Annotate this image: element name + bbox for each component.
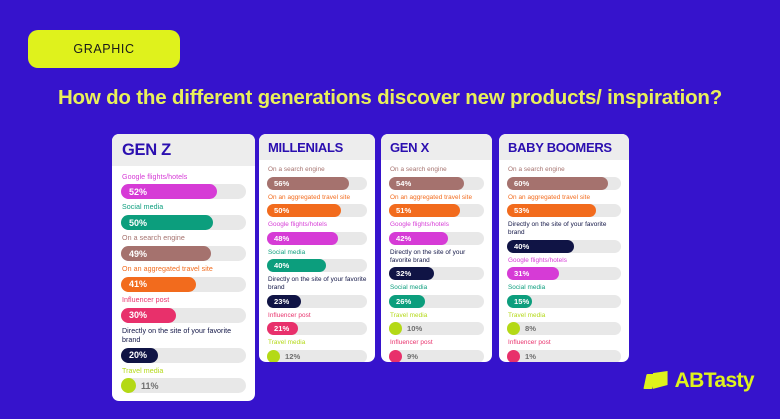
bar-row: On a search engine60% (507, 166, 621, 190)
bar-row: Social media26% (389, 284, 484, 308)
bar-value: 40% (514, 242, 529, 251)
bar-track: 53% (507, 204, 621, 217)
bar-label: Social media (508, 284, 621, 292)
bar-row: Social media15% (507, 284, 621, 308)
card-title: BABY BOOMERS (508, 141, 620, 154)
bar-fill: 42% (389, 232, 448, 245)
bar-label: Influencer post (390, 339, 484, 347)
bar-label: On a search engine (122, 234, 246, 243)
bar-row: Directly on the site of your favorite br… (507, 221, 621, 253)
bar-label: Google flights/hotels (268, 221, 367, 229)
bar-value: 11% (141, 381, 159, 391)
bar-label: Travel media (122, 367, 246, 376)
bar-fill: 50% (121, 215, 213, 230)
bar-fill: 51% (389, 204, 460, 217)
abtasty-logo-mark-icon (645, 371, 669, 391)
bar-track: 1% (507, 350, 621, 363)
bar-row: Social media40% (267, 249, 367, 273)
bar-label: On an aggregated travel site (508, 194, 621, 202)
bar-fill: 26% (389, 295, 425, 308)
graphic-badge: GRAPHIC (28, 30, 180, 68)
bar-label: Travel media (508, 312, 621, 320)
bar-fill: 60% (507, 177, 608, 190)
bar-value: 56% (274, 179, 289, 188)
bar-value: 60% (514, 179, 529, 188)
bar-label: Google flights/hotels (122, 173, 246, 182)
bar-track: 23% (267, 295, 367, 308)
card-body: On a search engine60%On an aggregated tr… (499, 160, 629, 362)
bar-value: 20% (129, 350, 147, 360)
bar-fill: 48% (267, 232, 338, 245)
bar-row: On an aggregated travel site53% (507, 194, 621, 218)
bar-value: 26% (396, 297, 411, 306)
bar-fill: 54% (389, 177, 464, 190)
bar-track: 41% (121, 277, 246, 292)
bar-track: 10% (389, 322, 484, 335)
bar-label: Google flights/hotels (508, 257, 621, 265)
bar-fill: 40% (507, 240, 574, 253)
bar-label: Directly on the site of your favorite br… (122, 327, 246, 345)
bar-fill: 23% (267, 295, 301, 308)
bar-row: Influencer post21% (267, 312, 367, 336)
infographic-canvas: GRAPHIC How do the different generations… (0, 0, 780, 419)
bar-row: Travel media10% (389, 312, 484, 336)
bar-row: On a search engine54% (389, 166, 484, 190)
bar-track: 50% (267, 204, 367, 217)
generation-card-gen-z: GEN ZGoogle flights/hotels52%Social medi… (112, 134, 255, 401)
bar-value: 41% (129, 279, 147, 289)
card-header: GEN X (381, 134, 492, 160)
bar-value: 42% (396, 234, 411, 243)
bar-label: Influencer post (268, 312, 367, 320)
bar-value: 50% (274, 206, 289, 215)
bar-value: 10% (407, 324, 422, 333)
card-body: On a search engine54%On an aggregated tr… (381, 160, 492, 362)
generation-card-baby-boomers: BABY BOOMERSOn a search engine60%On an a… (499, 134, 629, 362)
bar-fill: 40% (267, 259, 326, 272)
bar-track: 40% (267, 259, 367, 272)
bar-track: 9% (389, 350, 484, 363)
bar-row: Travel media11% (121, 367, 246, 394)
bar-row: On a search engine56% (267, 166, 367, 190)
generation-cards-row: GEN ZGoogle flights/hotels52%Social medi… (112, 134, 630, 362)
bar-track: 52% (121, 184, 246, 199)
bar-fill: 8% (507, 322, 520, 335)
bar-fill: 15% (507, 295, 532, 308)
bar-row: Social media50% (121, 203, 246, 230)
bar-track: 12% (267, 350, 367, 363)
card-body: Google flights/hotels52%Social media50%O… (112, 166, 255, 394)
bar-label: Social media (390, 284, 484, 292)
bar-track: 60% (507, 177, 621, 190)
bar-row: On an aggregated travel site51% (389, 194, 484, 218)
bar-fill: 49% (121, 246, 211, 261)
bar-row: On a search engine49% (121, 234, 246, 261)
bar-fill: 52% (121, 184, 217, 199)
bar-track: 11% (121, 378, 246, 393)
card-title: GEN X (390, 141, 483, 154)
bar-track: 54% (389, 177, 484, 190)
bar-fill: 21% (267, 322, 298, 335)
bar-row: On an aggregated travel site41% (121, 265, 246, 292)
bar-value: 1% (525, 352, 536, 361)
bar-fill: 41% (121, 277, 196, 292)
bar-fill: 11% (121, 378, 136, 393)
bar-value: 49% (129, 249, 147, 259)
bar-row: Google flights/hotels48% (267, 221, 367, 245)
bar-fill: 12% (267, 350, 280, 363)
bar-value: 30% (129, 310, 147, 320)
card-header: MILLENIALS (259, 134, 375, 160)
card-header: GEN Z (112, 134, 255, 166)
bar-track: 20% (121, 348, 246, 363)
bar-track: 26% (389, 295, 484, 308)
bar-row: Travel media12% (267, 339, 367, 362)
bar-track: 42% (389, 232, 484, 245)
bar-row: Influencer post9% (389, 339, 484, 362)
bar-fill: 9% (389, 350, 402, 363)
bar-label: Directly on the site of your favorite br… (390, 249, 484, 265)
bar-track: 40% (507, 240, 621, 253)
bar-track: 15% (507, 295, 621, 308)
bar-label: On an aggregated travel site (390, 194, 484, 202)
bar-row: Google flights/hotels52% (121, 173, 246, 200)
bar-fill: 20% (121, 348, 158, 363)
bar-label: On a search engine (268, 166, 367, 174)
bar-row: Google flights/hotels42% (389, 221, 484, 245)
bar-track: 51% (389, 204, 484, 217)
generation-card-millenials: MILLENIALSOn a search engine56%On an agg… (259, 134, 375, 362)
bar-row: On an aggregated travel site50% (267, 194, 367, 218)
bar-label: Social media (122, 203, 246, 212)
bar-label: On a search engine (508, 166, 621, 174)
bar-value: 48% (274, 234, 289, 243)
bar-label: Directly on the site of your favorite br… (268, 276, 367, 292)
bar-label: Travel media (390, 312, 484, 320)
bar-track: 21% (267, 322, 367, 335)
bar-label: On an aggregated travel site (122, 265, 246, 274)
bar-track: 49% (121, 246, 246, 261)
card-title: GEN Z (122, 142, 245, 159)
bar-track: 8% (507, 322, 621, 335)
card-header: BABY BOOMERS (499, 134, 629, 160)
bar-row: Directly on the site of your favorite br… (389, 249, 484, 281)
abtasty-logo-text: ABTasty (675, 369, 754, 393)
bar-track: 48% (267, 232, 367, 245)
bar-fill: 31% (507, 267, 559, 280)
bar-value: 15% (514, 297, 529, 306)
bar-label: Influencer post (122, 296, 246, 305)
bar-value: 12% (285, 352, 300, 361)
graphic-badge-label: GRAPHIC (73, 42, 134, 56)
bar-value: 9% (407, 352, 418, 361)
bar-fill: 1% (507, 350, 520, 363)
bar-row: Directly on the site of your favorite br… (267, 276, 367, 308)
bar-fill: 56% (267, 177, 349, 190)
card-body: On a search engine56%On an aggregated tr… (259, 160, 375, 362)
bar-value: 40% (274, 261, 289, 270)
bar-value: 53% (514, 206, 529, 215)
bar-value: 21% (274, 324, 289, 333)
bar-track: 50% (121, 215, 246, 230)
bar-value: 31% (514, 269, 529, 278)
bar-label: On a search engine (390, 166, 484, 174)
bar-row: Influencer post30% (121, 296, 246, 323)
bar-value: 32% (396, 269, 411, 278)
bar-fill: 10% (389, 322, 402, 335)
bar-label: Influencer post (508, 339, 621, 347)
bar-fill: 30% (121, 308, 176, 323)
bar-value: 50% (129, 218, 147, 228)
card-title: MILLENIALS (268, 141, 366, 154)
bar-value: 54% (396, 179, 411, 188)
bar-fill: 50% (267, 204, 341, 217)
abtasty-logo: ABTasty (645, 369, 754, 393)
bar-label: Social media (268, 249, 367, 257)
bar-row: Travel media8% (507, 312, 621, 336)
bar-value: 23% (274, 297, 289, 306)
bar-label: On an aggregated travel site (268, 194, 367, 202)
bar-fill: 32% (389, 267, 434, 280)
bar-row: Google flights/hotels31% (507, 257, 621, 281)
bar-track: 31% (507, 267, 621, 280)
bar-label: Google flights/hotels (390, 221, 484, 229)
page-title: How do the different generations discove… (0, 86, 780, 110)
bar-value: 52% (129, 187, 147, 197)
bar-value: 8% (525, 324, 536, 333)
bar-label: Travel media (268, 339, 367, 347)
bar-value: 51% (396, 206, 411, 215)
bar-fill: 53% (507, 204, 596, 217)
bar-track: 56% (267, 177, 367, 190)
bar-row: Directly on the site of your favorite br… (121, 327, 246, 363)
generation-card-gen-x: GEN XOn a search engine54%On an aggregat… (381, 134, 492, 362)
bar-track: 32% (389, 267, 484, 280)
bar-row: Influencer post1% (507, 339, 621, 362)
bar-track: 30% (121, 308, 246, 323)
bar-label: Directly on the site of your favorite br… (508, 221, 621, 237)
